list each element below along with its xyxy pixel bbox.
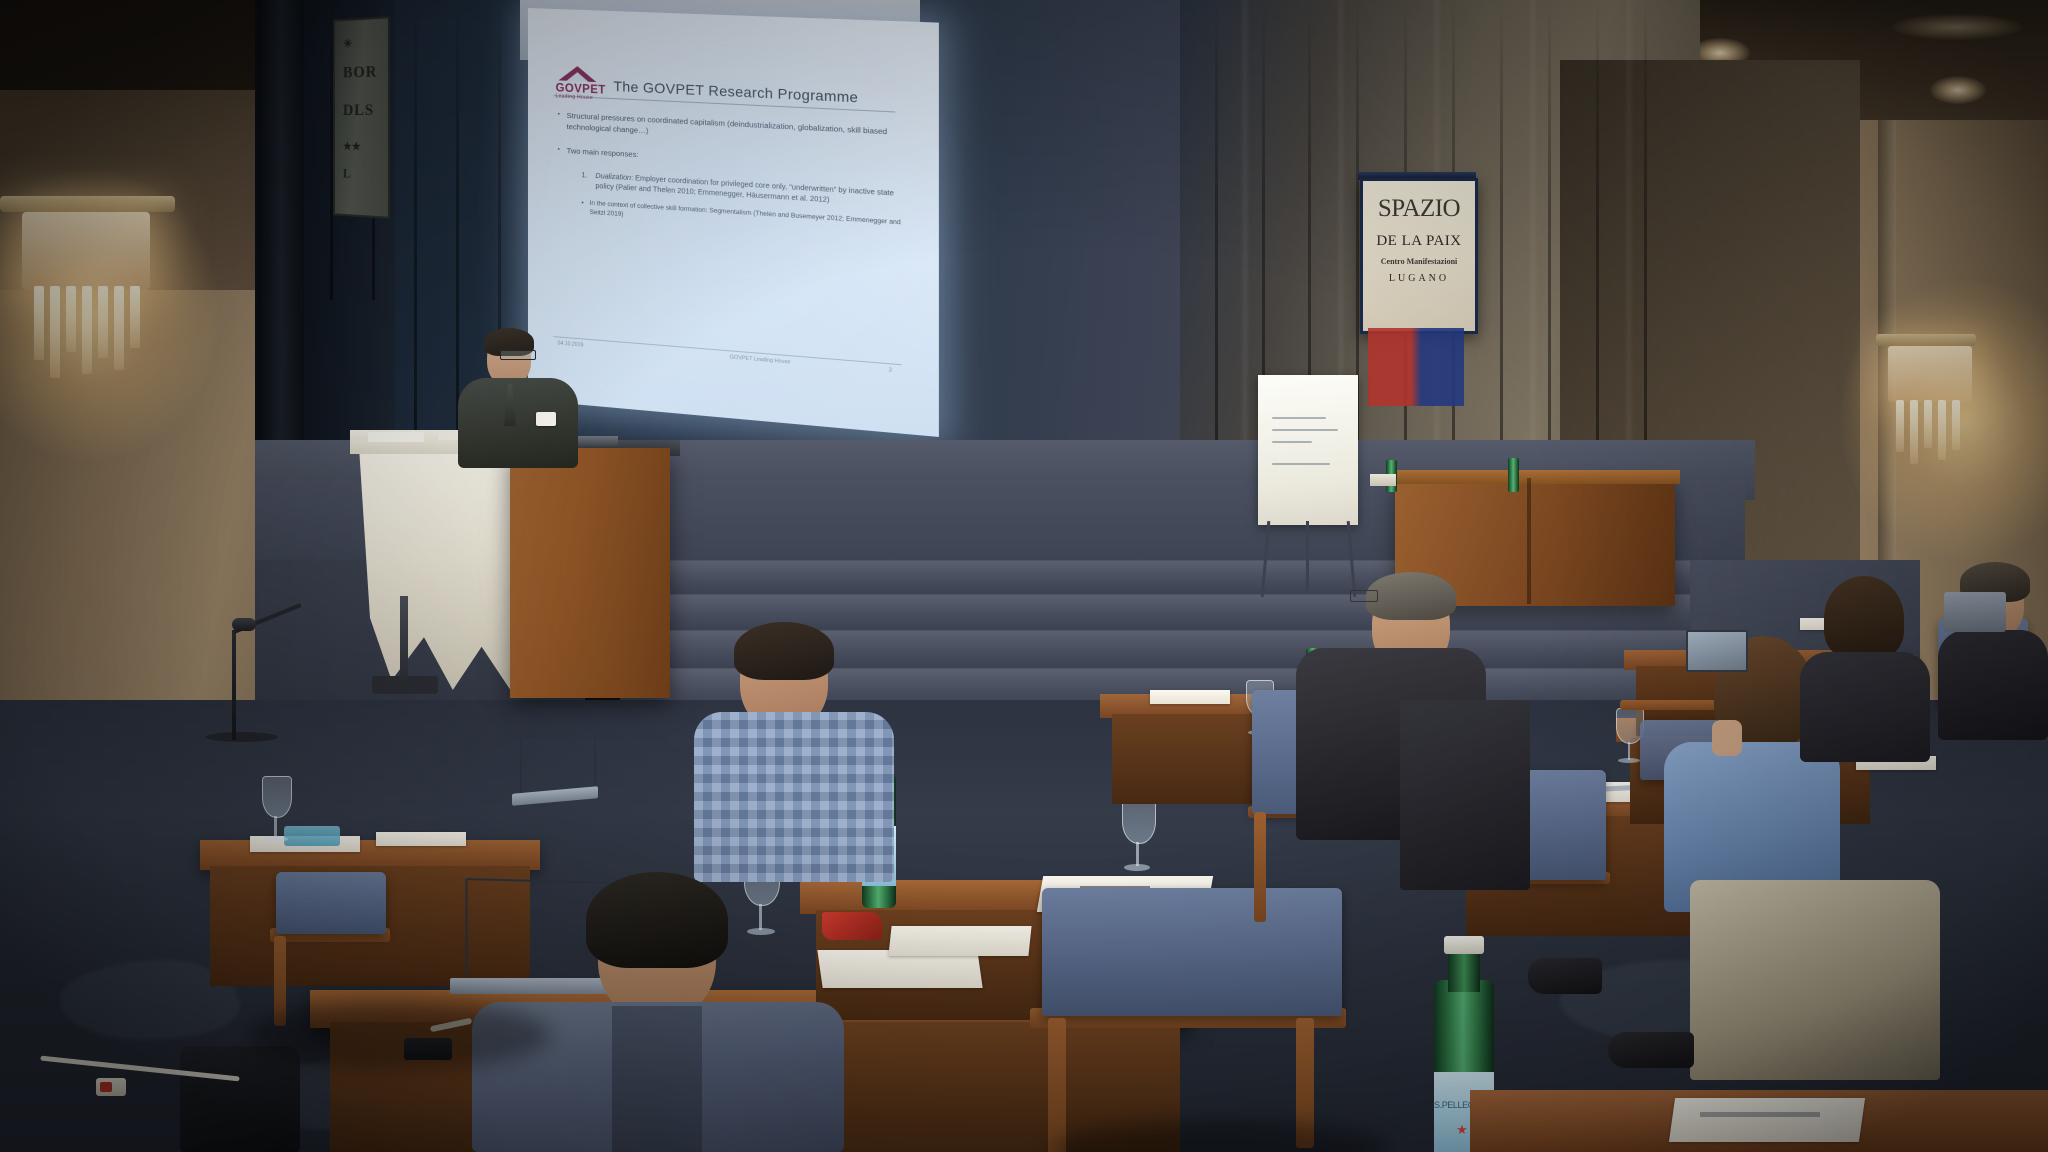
attendee-5-body — [1800, 652, 1930, 762]
folder-left — [284, 826, 340, 846]
slide-footer-date: 04.10.2019 — [558, 340, 584, 348]
chair-3-back[interactable] — [1042, 888, 1342, 1016]
flipchart-easel[interactable] — [1258, 375, 1358, 590]
slide-footer-text: GOVPET Leading House — [730, 354, 791, 365]
bottle-fg-cap — [1444, 936, 1484, 954]
attendee-5-hair — [1824, 576, 1904, 660]
chair-3-leg-left — [1048, 1018, 1066, 1152]
sconce-left-bracket — [0, 196, 175, 212]
paper-fg-right-line — [1700, 1112, 1820, 1117]
bullet-marker: ▪ — [558, 109, 560, 131]
presenter-glasses — [500, 350, 536, 360]
attendee-4-arm — [1712, 720, 1742, 756]
bottle-fg-neck — [1448, 948, 1480, 992]
slide-footer-rule — [554, 336, 902, 365]
sconce-right-bracket — [1876, 334, 1976, 346]
high-table-leg — [400, 596, 408, 682]
bullet-number: 1. — [581, 170, 587, 191]
shoe-2 — [1608, 1032, 1694, 1068]
red-pouch — [822, 912, 882, 940]
slide-page-number: 3 — [889, 367, 892, 374]
bullet-text: Structural pressures on coordinated capi… — [567, 110, 911, 150]
ceiling-downlight-2 — [1930, 76, 1986, 104]
wall-panel-glyph-3: DLS — [343, 102, 374, 120]
speaker-podium — [510, 448, 670, 698]
bullet-marker: ▪ — [558, 145, 560, 156]
chair-4-leg — [1254, 812, 1266, 922]
ceiling-downlight-3 — [1892, 14, 2022, 40]
mic-stand-pole — [232, 630, 236, 740]
attendee-3-hair — [1366, 572, 1456, 620]
flipchart-paper — [1258, 375, 1358, 525]
sconce-right-lamp — [1888, 346, 1972, 402]
attendee-2-collar — [612, 1006, 702, 1152]
high-table-paper-1 — [368, 432, 424, 442]
presenter-name-badge — [536, 412, 556, 426]
mic-stand-base — [206, 732, 278, 742]
banner-line-delapaix: DE LA PAIX — [1363, 233, 1475, 250]
stage-table-top — [1390, 470, 1680, 484]
projection-screen: GOVPET Leading House The GOVPET Research… — [528, 8, 939, 437]
paper-fg-right-1 — [1669, 1098, 1865, 1142]
sconce-left-lamp — [22, 212, 150, 290]
chair-1-back[interactable] — [276, 872, 386, 934]
wall-panel-glyph-5: L — [343, 165, 351, 181]
paper-front-2 — [888, 926, 1031, 956]
bullet-marker: ▪ — [581, 198, 583, 217]
attendee-2-hair — [586, 872, 728, 968]
banner-line-centro: Centro Manifestazioni — [1363, 257, 1475, 266]
venue-banner: SPAZIO DE LA PAIX Centro Manifestazioni … — [1360, 178, 1478, 334]
stage-table-seam — [1527, 478, 1531, 604]
banner-flag-panel — [1368, 328, 1464, 406]
wall-panel-glyph-4: ★★ — [343, 140, 361, 153]
bullet-emphasis: Dualization — [595, 171, 631, 182]
attendee-3-coat — [1400, 700, 1530, 890]
attendee-3-glasses — [1350, 590, 1378, 602]
plug-indicator — [100, 1082, 112, 1092]
banner-line-lugano: LUGANO — [1363, 273, 1475, 284]
bag-on-floor — [180, 1046, 300, 1152]
laptop-rear-right[interactable] — [1944, 592, 2006, 632]
wall-panel-glyph-1: ☀ — [343, 36, 353, 51]
slide-body: ▪ Structural pressures on coordinated ca… — [558, 109, 911, 237]
attendee-4-coat-on-chair — [1690, 880, 1940, 1080]
microphone-icon[interactable] — [232, 618, 256, 631]
slide-bullet-2: ▪ Two main responses: — [558, 145, 911, 176]
chair-6-armrest — [1620, 700, 1716, 710]
attendee-6-body — [1938, 630, 2048, 740]
paper-left-2 — [376, 832, 466, 846]
wine-glass-mid-bowl[interactable] — [1122, 798, 1156, 844]
banner-line-spazio: SPAZIO — [1363, 195, 1475, 223]
presenter-torso — [458, 378, 578, 468]
laptop-right-screen[interactable] — [1686, 630, 1748, 672]
decorative-wall-panel: ☀ BOR DLS ★★ L — [333, 16, 390, 219]
slide-title: The GOVPET Research Programme — [613, 78, 858, 106]
attendee-1-hair — [734, 622, 834, 680]
conference-room-photo: ☀ BOR DLS ★★ L SPAZIO DE LA PAIX Centro … — [0, 0, 2048, 1152]
bullet-text: : Employer coordination for privileged c… — [595, 173, 894, 205]
wine-glass-left-bowl[interactable] — [262, 776, 292, 818]
bottle-stage-2[interactable] — [1508, 458, 1519, 492]
stage-table-papers — [1370, 474, 1396, 486]
paper-right-1 — [1150, 690, 1230, 704]
roof-triangle-inner-icon — [566, 72, 588, 82]
bullet-text: Two main responses: — [567, 145, 639, 160]
wall-panel-glyph-2: BOR — [343, 63, 377, 82]
pellegrino-star-icon: ★ — [1454, 1122, 1470, 1138]
attendee-1-body — [694, 712, 894, 882]
shoe-1 — [1528, 958, 1602, 994]
